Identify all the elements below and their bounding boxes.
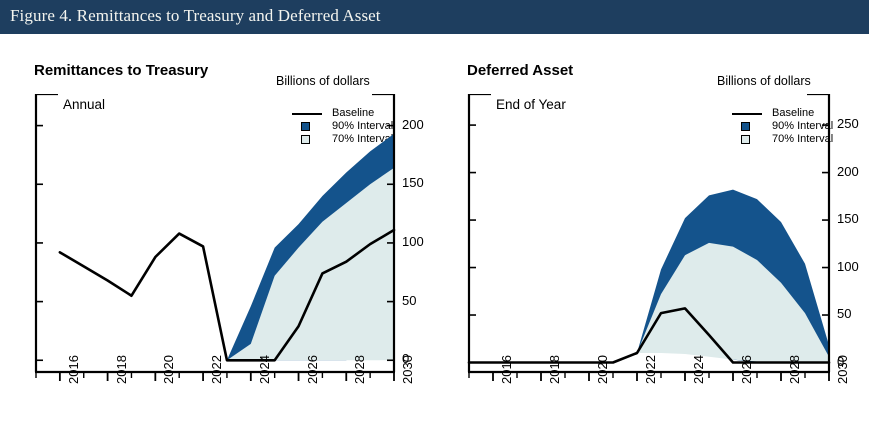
y-tick-label: 200 <box>402 117 424 132</box>
y-tick-label: 200 <box>837 164 859 179</box>
x-tick-label: 2026 <box>739 355 754 384</box>
x-tick-label: 2020 <box>595 355 610 384</box>
y-tick-label: 150 <box>837 211 859 226</box>
units-label-right: Billions of dollars <box>717 74 811 88</box>
y-tick-label: 150 <box>402 175 424 190</box>
x-tick-label: 2030 <box>835 355 850 384</box>
figure-root: Figure 4. Remittances to Treasury and De… <box>0 0 869 433</box>
x-tick-label: 2020 <box>161 355 176 384</box>
units-label-left: Billions of dollars <box>276 74 370 88</box>
x-tick-label: 2016 <box>66 355 81 384</box>
x-tick-label: 2018 <box>547 355 562 384</box>
plot-remittances <box>34 94 404 394</box>
x-tick-label: 2022 <box>209 355 224 384</box>
x-tick-label: 2028 <box>352 355 367 384</box>
plot-deferred-asset <box>467 94 839 394</box>
x-tick-label: 2018 <box>114 355 129 384</box>
figure-banner: Figure 4. Remittances to Treasury and De… <box>0 0 869 34</box>
figure-title: Figure 4. Remittances to Treasury and De… <box>10 6 381 26</box>
y-tick-label: 250 <box>837 116 859 131</box>
x-tick-label: 2024 <box>691 355 706 384</box>
panel-title-deferred-asset: Deferred Asset <box>467 62 573 79</box>
y-tick-label: 50 <box>837 306 851 321</box>
y-tick-label: 100 <box>837 259 859 274</box>
x-tick-label: 2028 <box>787 355 802 384</box>
panel-title-remittances: Remittances to Treasury <box>34 62 208 79</box>
panel-remittances: Remittances to Treasury Billions of doll… <box>0 34 440 433</box>
x-tick-label: 2016 <box>499 355 514 384</box>
panel-deferred-asset: Deferred Asset Billions of dollars End o… <box>434 34 869 433</box>
x-tick-label: 2030 <box>400 355 415 384</box>
x-tick-label: 2026 <box>305 355 320 384</box>
y-tick-label: 100 <box>402 234 424 249</box>
x-tick-label: 2022 <box>643 355 658 384</box>
x-tick-label: 2024 <box>257 355 272 384</box>
y-tick-label: 50 <box>402 293 416 308</box>
